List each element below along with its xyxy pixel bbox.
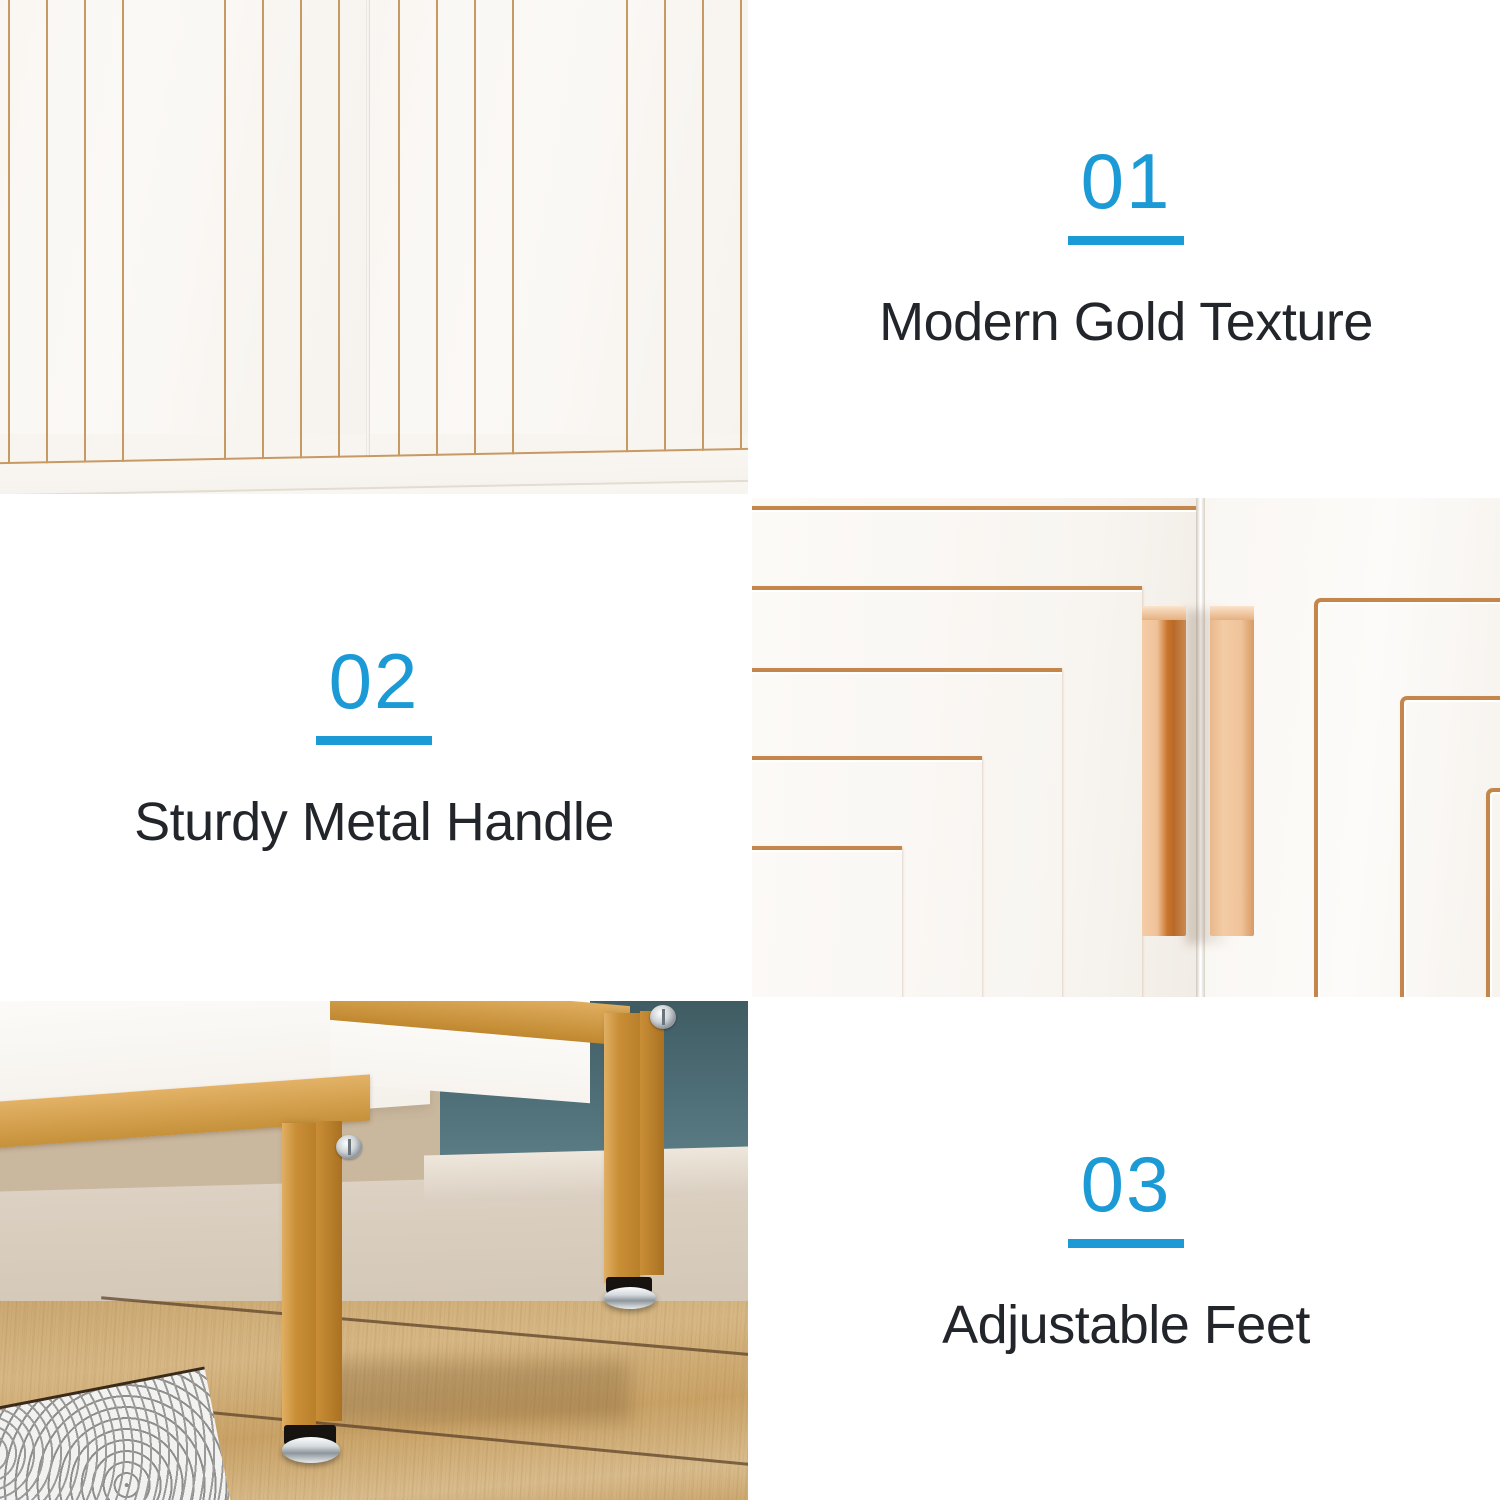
feature-number-underline-03 — [1068, 1239, 1184, 1248]
leg-screw-back — [650, 1005, 676, 1029]
handle-bar-left-top — [1142, 606, 1186, 620]
leg-screw-front — [336, 1135, 362, 1159]
handle-bar-right — [1210, 606, 1254, 936]
feature-caption-02: Sturdy Metal Handle — [134, 791, 614, 853]
feature-grid: 01 Modern Gold Texture 02 Sturdy Metal H… — [0, 0, 1500, 1500]
feature-text-03: 03 Adjustable Feet — [752, 1001, 1500, 1500]
cabinet-door-right — [370, 0, 748, 434]
cabinet-door-seam — [366, 0, 370, 494]
feature-number-badge-03: 03 — [1068, 1145, 1184, 1248]
cabinet-leg-back — [604, 1013, 640, 1283]
feature-number-badge-02: 02 — [316, 642, 432, 745]
feature-caption-03: Adjustable Feet — [942, 1294, 1310, 1356]
feature-number-02: 02 — [329, 642, 420, 720]
feature-number-underline-01 — [1068, 236, 1184, 245]
feature-text-01: 01 Modern Gold Texture — [752, 0, 1500, 494]
feature-number-03: 03 — [1081, 1145, 1172, 1223]
feature-image-adjustable-feet — [0, 1001, 748, 1500]
feature-text-02: 02 Sturdy Metal Handle — [0, 498, 748, 997]
handle-bar-left — [1142, 606, 1186, 936]
feature-number-underline-02 — [316, 736, 432, 745]
cabinet-leg-front — [282, 1123, 316, 1431]
cabinet-leg-front-side — [316, 1121, 342, 1421]
baseboard — [424, 1146, 748, 1203]
cabinet-leg-back-side — [640, 1011, 664, 1275]
feature-number-badge-01: 01 — [1068, 142, 1184, 245]
feature-number-01: 01 — [1081, 142, 1172, 220]
adjustable-foot-front — [282, 1437, 340, 1463]
leg-floor-shadow — [300, 1361, 630, 1421]
feature-image-modern-gold-texture — [0, 0, 748, 494]
handle-door-left — [752, 498, 1198, 997]
cabinet-door-left — [0, 0, 368, 434]
adjustable-foot-back — [604, 1287, 656, 1309]
feature-caption-01: Modern Gold Texture — [879, 291, 1373, 353]
handle-bar-right-top — [1210, 606, 1254, 620]
feature-image-sturdy-metal-handle — [752, 498, 1500, 997]
